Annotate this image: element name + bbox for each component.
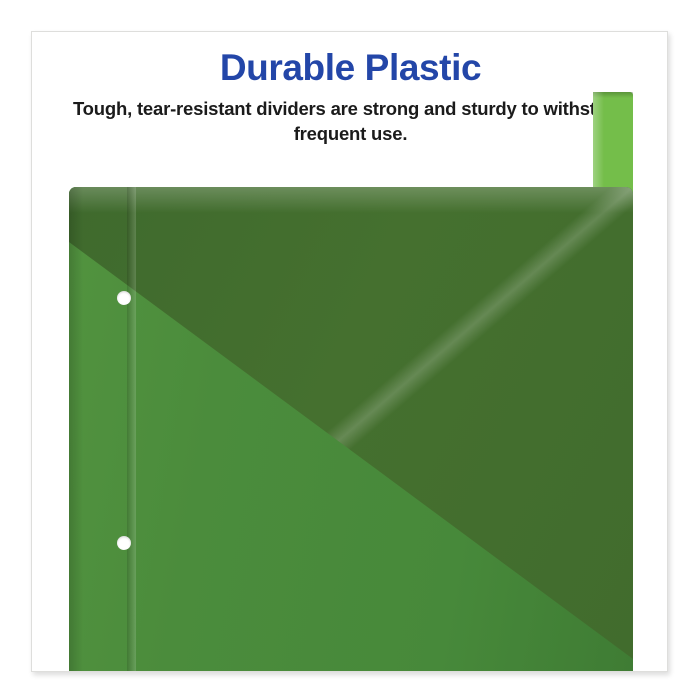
left-edge-shadow — [69, 187, 83, 672]
product-photo — [32, 32, 668, 672]
punch-hole-top — [117, 291, 131, 305]
punch-hole-bottom — [117, 536, 131, 550]
top-edge-sheen — [69, 187, 633, 213]
front-divider-sheet — [69, 187, 633, 672]
binding-crease — [127, 187, 136, 672]
product-image-card: Durable Plastic Tough, tear-resistant di… — [31, 31, 668, 672]
